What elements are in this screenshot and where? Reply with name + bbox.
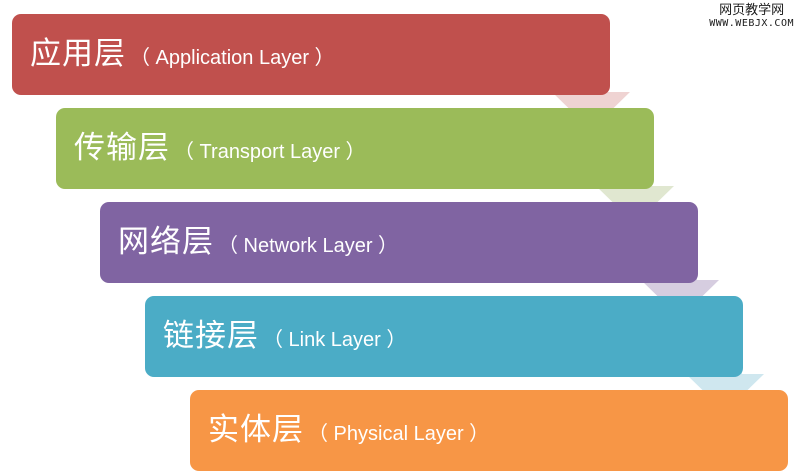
layer-name-en-transport: （ Transport Layer ） — [174, 142, 366, 162]
layer-name-en-physical: （ Physical Layer ） — [308, 424, 489, 444]
watermark-site-name: 网页教学网 — [709, 4, 794, 18]
layer-bar-physical[interactable]: 实体层 （ Physical Layer ） — [190, 390, 788, 471]
layer-label-network: 网络层 （ Network Layer ） — [100, 227, 398, 258]
layer-label-link: 链接层 （ Link Layer ） — [145, 321, 406, 352]
layer-name-en-link: （ Link Layer ） — [263, 330, 406, 350]
layer-bar-application[interactable]: 应用层 （ Application Layer ） — [12, 14, 610, 95]
layer-bar-link[interactable]: 链接层 （ Link Layer ） — [145, 296, 743, 377]
layer-bar-transport[interactable]: 传输层 （ Transport Layer ） — [56, 108, 654, 189]
layer-label-application: 应用层 （ Application Layer ） — [12, 39, 335, 70]
layer-name-en-application: （ Application Layer ） — [130, 48, 335, 68]
watermark: 网页教学网 WWW.WEBJX.COM — [709, 4, 794, 29]
layer-name-cn-transport: 传输层 — [74, 133, 170, 164]
layer-name-en-network: （ Network Layer ） — [218, 236, 398, 256]
watermark-url: WWW.WEBJX.COM — [709, 19, 794, 30]
layer-name-cn-physical: 实体层 — [208, 415, 304, 446]
layer-label-physical: 实体层 （ Physical Layer ） — [190, 415, 489, 446]
layer-name-cn-network: 网络层 — [118, 227, 214, 258]
layer-label-transport: 传输层 （ Transport Layer ） — [56, 133, 366, 164]
layer-bar-network[interactable]: 网络层 （ Network Layer ） — [100, 202, 698, 283]
layer-name-cn-application: 应用层 — [30, 39, 126, 70]
diagram-canvas: 应用层 （ Application Layer ） 传输层 （ Transpor… — [0, 0, 800, 476]
layer-name-cn-link: 链接层 — [163, 321, 259, 352]
